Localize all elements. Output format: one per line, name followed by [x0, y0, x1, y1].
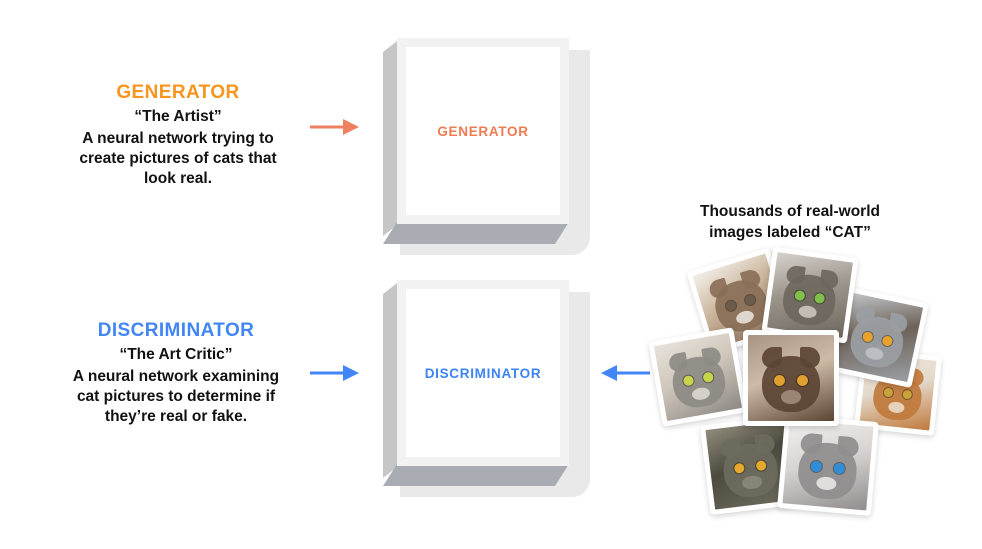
- discriminator-box-front-face: DISCRIMINATOR: [397, 280, 569, 466]
- cat-photo-image: [654, 333, 742, 421]
- generator-box-front-face: GENERATOR: [397, 38, 569, 224]
- dataset-photo: [777, 414, 879, 516]
- discriminator-description-line-1: A neural network examining: [36, 367, 316, 387]
- dataset-photo-cluster: [655, 252, 905, 502]
- discriminator-description-block: DISCRIMINATOR “The Art Critic” A neural …: [36, 318, 316, 428]
- arrow-right-icon-generator: [310, 112, 360, 142]
- generator-description-line-1: A neural network trying to: [38, 129, 318, 149]
- generator-box-label: GENERATOR: [437, 124, 528, 139]
- discriminator-nickname: “The Art Critic”: [36, 345, 316, 365]
- cat-photo-image: [782, 419, 873, 510]
- generator-description-line-3: look real.: [38, 169, 318, 189]
- generator-nickname: “The Artist”: [38, 107, 318, 127]
- discriminator-box: DISCRIMINATOR: [378, 272, 590, 497]
- discriminator-box-bottom-face: [383, 464, 569, 486]
- dataset-photo: [761, 246, 858, 343]
- cat-photo-image: [767, 252, 853, 338]
- generator-box-bottom-face: [383, 222, 569, 244]
- diagram-canvas: GENERATOR “The Artist” A neural network …: [0, 0, 982, 549]
- generator-description-line-2: create pictures of cats that: [38, 149, 318, 169]
- discriminator-description-line-3: they’re real or fake.: [36, 407, 316, 427]
- dataset-caption-line-1: Thousands of real-world: [665, 202, 915, 223]
- generator-description-block: GENERATOR “The Artist” A neural network …: [38, 80, 318, 190]
- dataset-photo: [743, 330, 839, 426]
- generator-box: GENERATOR: [378, 30, 590, 255]
- dataset-caption: Thousands of real-world images labeled “…: [665, 202, 915, 244]
- discriminator-title: DISCRIMINATOR: [36, 318, 316, 343]
- arrow-right-icon-discriminator: [310, 358, 360, 388]
- dataset-caption-line-2: images labeled “CAT”: [665, 223, 915, 244]
- arrow-left-icon-dataset: [600, 358, 650, 388]
- cat-photo-image: [748, 335, 834, 421]
- dataset-photo: [648, 327, 748, 427]
- generator-title: GENERATOR: [38, 80, 318, 105]
- discriminator-box-label: DISCRIMINATOR: [425, 366, 542, 381]
- discriminator-description-line-2: cat pictures to determine if: [36, 387, 316, 407]
